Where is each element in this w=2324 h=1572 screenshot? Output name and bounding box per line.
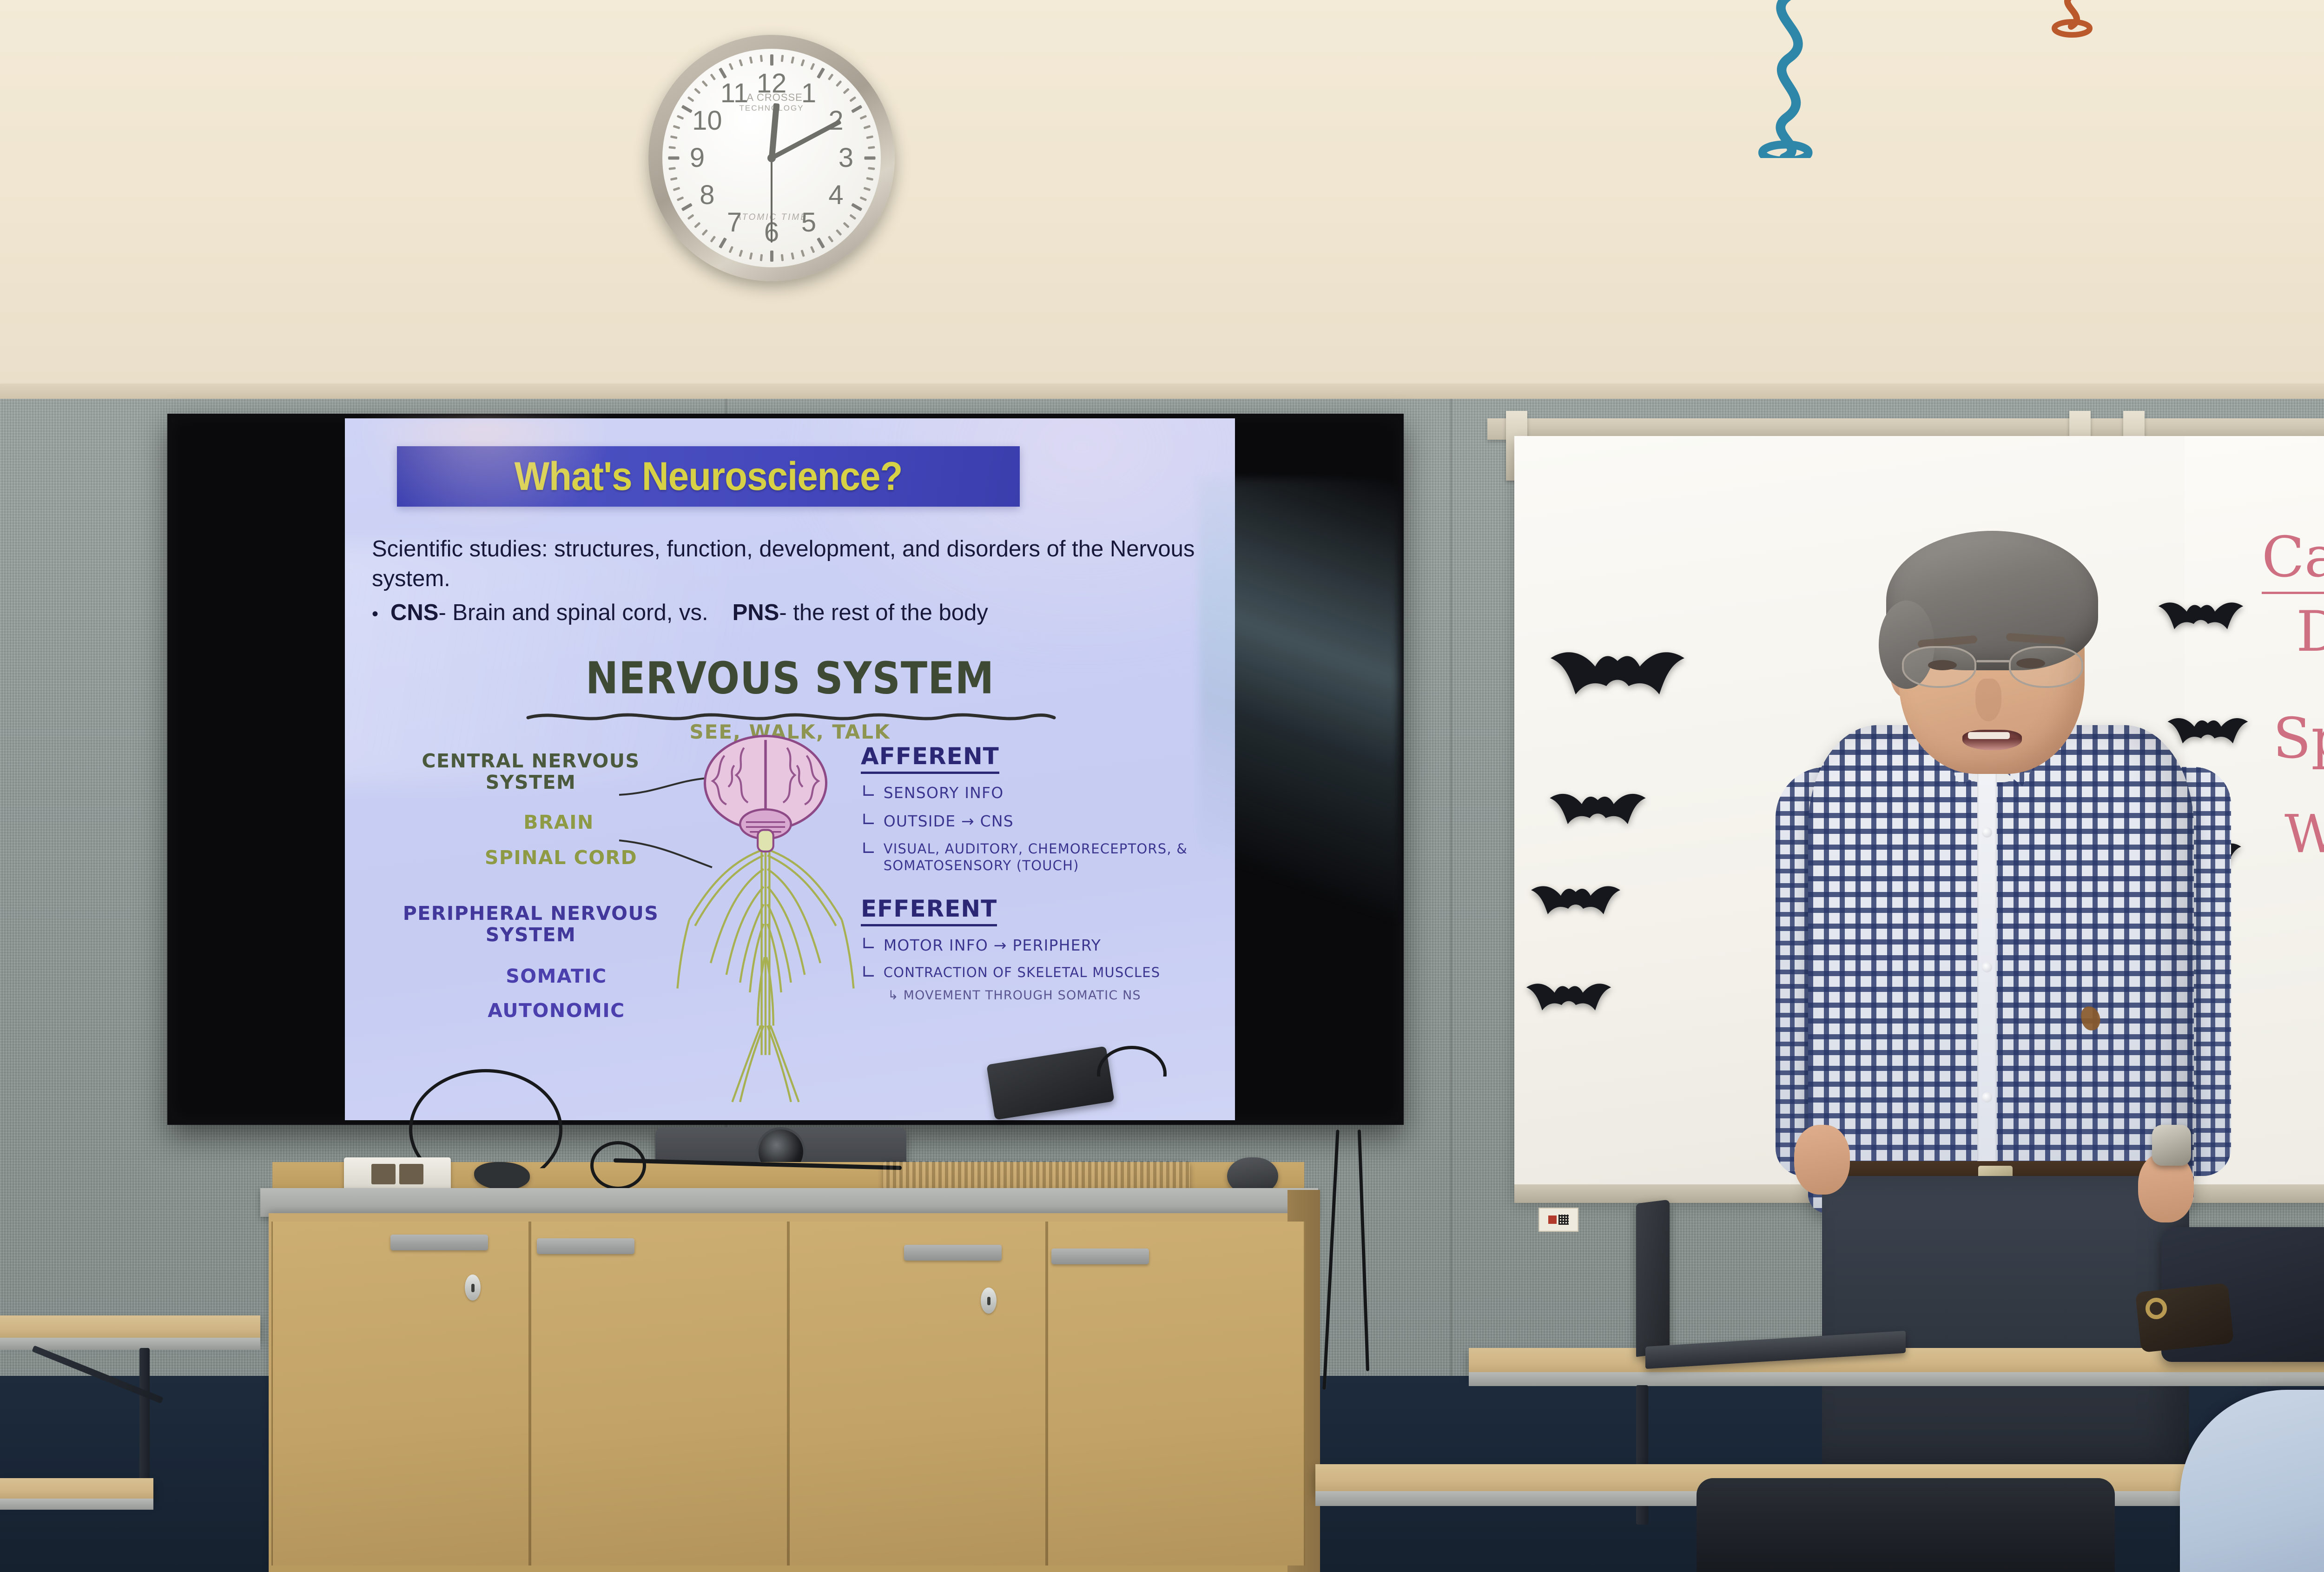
- clock-numeral: 10: [691, 107, 723, 134]
- student-chair: [1697, 1478, 2115, 1572]
- presenter-mouth: [1962, 730, 2022, 750]
- desk-edge: [1469, 1372, 2324, 1386]
- presenter-shirt-placket: [1977, 767, 1997, 1199]
- credenza-handle[interactable]: [1051, 1248, 1149, 1264]
- label-autonomic: AUTONOMIC: [387, 1000, 675, 1022]
- clock-tick: [791, 252, 794, 260]
- clock-tick: [710, 236, 716, 243]
- clock-numeral: 7: [718, 209, 751, 236]
- term-cns: CNS: [390, 600, 438, 625]
- afferent-item-1: ∟SENSORY INFO: [861, 783, 1223, 802]
- cable-loop: [590, 1141, 646, 1190]
- presentation-slide: What's Neuroscience? Scientific studies:…: [345, 418, 1235, 1120]
- clock-numeral: 11: [718, 80, 751, 107]
- clock-tick: [728, 63, 733, 70]
- credenza-lock[interactable]: [981, 1288, 997, 1314]
- upper-wall: [0, 0, 2324, 390]
- bat-decoration-icon: [1525, 976, 1613, 1022]
- power-outlet-block[interactable]: [344, 1157, 451, 1191]
- credenza-handle[interactable]: [390, 1235, 488, 1250]
- wall-clock: LA CROSSE TECHNOLOGY ATOMIC TIME 1212345…: [648, 35, 895, 281]
- clock-numeral: 3: [830, 145, 862, 172]
- credenza-door[interactable]: [271, 1222, 530, 1565]
- afferent-item-2: ∟OUTSIDE → CNS: [861, 812, 1223, 831]
- clock-tick: [800, 59, 805, 66]
- presenter-shirt: [1808, 725, 2194, 1213]
- orange-spiral-streamer: [2045, 0, 2101, 62]
- clock-numeral: 8: [691, 182, 723, 209]
- clock-numeral: 1: [792, 80, 825, 107]
- clock-tick: [843, 222, 849, 228]
- bullet-marker: •: [372, 605, 378, 623]
- student-desk: [0, 1315, 260, 1340]
- keyboard[interactable]: [883, 1161, 1190, 1190]
- classroom-scene: LA CROSSE TECHNOLOGY ATOMIC TIME 1212345…: [0, 0, 2324, 1572]
- slide-title-band: What's Neuroscience?: [397, 446, 1020, 507]
- clock-tick: [810, 246, 815, 253]
- desk-edge: [0, 1499, 153, 1510]
- qr-sticker: [1538, 1208, 1578, 1232]
- clock-tick: [673, 187, 680, 191]
- clock-tick: [770, 251, 773, 262]
- heading-efferent: EFFERENT: [861, 895, 997, 926]
- clock-tick: [749, 56, 753, 64]
- brain-and-nerves-illustration: [666, 732, 865, 1104]
- clock-tick: [851, 203, 862, 211]
- clock-tick: [670, 177, 677, 181]
- wall-mounted-display[interactable]: What's Neuroscience? Scientific studies:…: [167, 414, 1404, 1125]
- presenter-hand: [1794, 1125, 1850, 1195]
- clock-numeral: 12: [755, 70, 788, 97]
- diagram-heading: NERVOUS SYSTEM: [345, 653, 1235, 704]
- credenza-door[interactable]: [530, 1222, 788, 1565]
- clock-tick: [827, 73, 833, 80]
- wall-chair-rail: [0, 384, 2324, 400]
- wall-panel-seam: [1450, 399, 1452, 1384]
- efferent-item-2: ∟CONTRACTION OF SKELETAL MUSCLES: [861, 964, 1223, 981]
- clock-tick: [835, 80, 842, 87]
- clock-tick: [868, 146, 875, 149]
- clock-tick: [866, 135, 873, 139]
- clock-tick: [668, 167, 675, 170]
- clock-tick: [816, 67, 825, 79]
- bat-decoration-icon: [1529, 878, 1622, 926]
- clock-tick: [864, 157, 875, 160]
- def-cns: - Brain and spinal cord, vs.: [438, 600, 708, 625]
- clock-tick: [710, 73, 716, 80]
- clock-tick: [866, 177, 873, 181]
- clock-tick: [759, 254, 763, 261]
- clock-tick: [676, 196, 684, 201]
- efferent-item-1: ∟MOTOR INFO → PERIPHERY: [861, 936, 1223, 955]
- presenter-trousers: [1822, 1176, 2189, 1464]
- clock-numeral: 5: [792, 209, 825, 236]
- clock-tick: [739, 59, 743, 66]
- credenza-handle[interactable]: [537, 1238, 634, 1254]
- clock-tick: [676, 115, 684, 120]
- clock-second-hand: [771, 158, 772, 243]
- credenza-countertop: [260, 1188, 1318, 1217]
- clock-center-pin: [767, 154, 776, 162]
- clock-tick: [668, 146, 675, 149]
- credenza-lock[interactable]: [465, 1275, 481, 1301]
- credenza-door[interactable]: [1047, 1222, 1305, 1565]
- heading-afferent: AFFERENT: [861, 743, 999, 774]
- clock-tick: [816, 238, 825, 249]
- clock-tick: [718, 238, 726, 249]
- whiteboard-line-2: De: [2296, 600, 2324, 664]
- bag-strap: [2135, 1283, 2234, 1353]
- afferent-item-3: ∟VISUAL, AUDITORY, CHEMORECEPTORS, & SOM…: [861, 840, 1223, 874]
- bag-buckle: [2146, 1298, 2167, 1319]
- label-somatic: SOMATIC: [387, 966, 675, 987]
- slide-bullet-cns-pns: • CNS- Brain and spinal cord, vs.PNS- th…: [372, 600, 1222, 626]
- clock-tick: [859, 196, 867, 201]
- wristwatch: [2152, 1125, 2191, 1166]
- clock-tick: [863, 125, 871, 129]
- bat-decoration-icon: [1548, 786, 1648, 837]
- student-desk: [0, 1478, 153, 1500]
- clock-tick: [810, 63, 815, 70]
- def-pns: - the rest of the body: [779, 600, 988, 625]
- credenza-door[interactable]: [788, 1222, 1047, 1565]
- clock-tick: [827, 236, 833, 243]
- slide-lede-text: Scientific studies: structures, function…: [372, 535, 1222, 594]
- clock-tick: [800, 250, 805, 257]
- clock-tick: [673, 125, 680, 129]
- clock-tick: [718, 67, 726, 79]
- whiteboard-line-1: Can't: [2262, 525, 2324, 590]
- clock-tick: [780, 254, 784, 261]
- clock-face: LA CROSSE TECHNOLOGY ATOMIC TIME 1212345…: [662, 49, 881, 267]
- clock-numeral: 4: [820, 182, 852, 209]
- clock-tick: [668, 157, 679, 160]
- clock-tick: [791, 56, 794, 64]
- teal-spiral-streamer: [1748, 0, 1831, 158]
- clock-tick: [759, 55, 763, 62]
- clock-tick: [701, 80, 708, 87]
- clock-tick: [770, 54, 773, 66]
- term-pns: PNS: [733, 600, 779, 625]
- whiteboard-line-3: Spin: [2273, 707, 2324, 771]
- credenza-handle[interactable]: [904, 1245, 1002, 1261]
- clock-tick: [701, 229, 708, 236]
- clock-numeral: 9: [681, 145, 713, 172]
- clock-tick: [749, 252, 753, 260]
- clock-tick: [670, 135, 677, 139]
- clock-tick: [835, 229, 842, 236]
- whiteboard-line-4: Whee: [2284, 804, 2324, 865]
- diagram-right-labels: AFFERENT ∟SENSORY INFO ∟OUTSIDE → CNS ∟V…: [861, 743, 1223, 1003]
- clock-tick: [728, 246, 733, 253]
- clock-tick: [739, 250, 743, 257]
- laptop-screen[interactable]: [1636, 1200, 1670, 1357]
- clock-tick: [780, 55, 784, 62]
- clock-tick: [868, 167, 875, 170]
- slide-title: What's Neuroscience?: [515, 453, 903, 499]
- clock-tick: [859, 115, 867, 120]
- clock-tick: [694, 222, 700, 228]
- efferent-note: ↳ MOVEMENT THROUGH SOMATIC NS: [861, 988, 1223, 1004]
- presenter-nose: [1975, 679, 2001, 721]
- bat-decoration-icon: [1548, 641, 1687, 711]
- clock-tick: [863, 187, 871, 191]
